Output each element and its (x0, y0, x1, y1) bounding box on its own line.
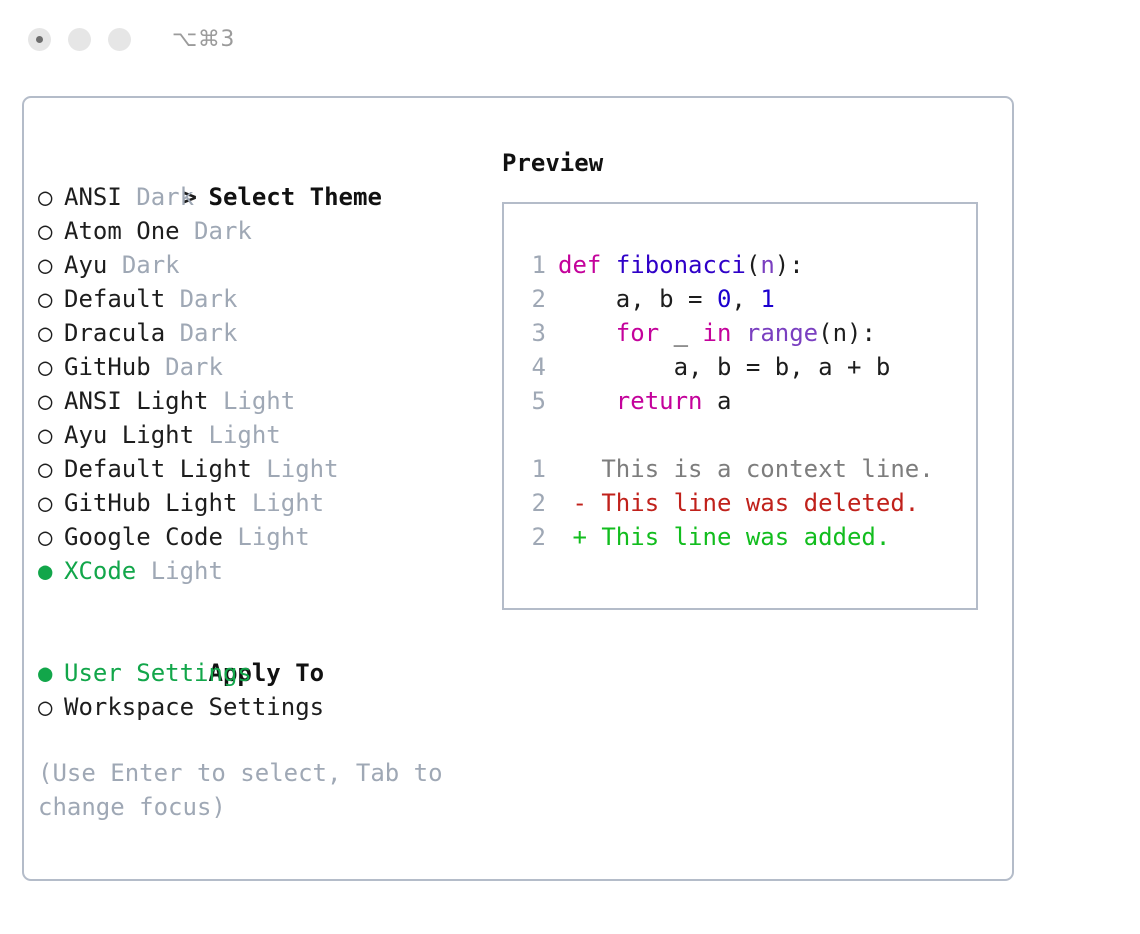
code-line: 2 a, b = 0, 1 (504, 282, 976, 316)
code-token: range (746, 319, 818, 347)
preview-column: Preview 1def fibonacci(n):2 a, b = 0, 13… (502, 146, 992, 610)
code-token: fibonacci (616, 251, 746, 279)
theme-option-google-code[interactable]: ○Google Code Light (38, 520, 488, 554)
theme-option-space (252, 455, 266, 483)
theme-list-header: >Select Theme (38, 146, 488, 180)
code-token: return (616, 387, 703, 415)
window-dot-3-icon[interactable] (108, 28, 131, 51)
theme-option-label: GitHub (64, 353, 151, 381)
theme-option-github-light[interactable]: ○GitHub Light Light (38, 486, 488, 520)
theme-option-variant: Dark (180, 285, 238, 313)
theme-option-space (151, 353, 165, 381)
window-titlebar: ⌥⌘3 (0, 0, 1140, 78)
theme-option-label: Default Light (64, 455, 252, 483)
theme-option-default[interactable]: ○Default Dark (38, 282, 488, 316)
preview-gap (504, 418, 976, 452)
apply-to-header: Apply To (38, 622, 488, 656)
app-window: ⌥⌘3 >Select Theme ○ANSI Dark○Atom One Da… (0, 0, 1140, 934)
diff-line-text: This is a context line. (558, 455, 934, 483)
theme-selection-column: >Select Theme ○ANSI Dark○Atom One Dark○A… (38, 146, 488, 824)
preview-box: 1def fibonacci(n):2 a, b = 0, 13 for _ i… (502, 202, 978, 610)
code-token: in (703, 319, 732, 347)
code-token: 0 (717, 285, 731, 313)
diff-line: 1 This is a context line. (504, 452, 976, 486)
code-token: ( (746, 251, 760, 279)
code-token: n (760, 251, 774, 279)
theme-option-space (237, 489, 251, 517)
code-preview-block: 1def fibonacci(n):2 a, b = 0, 13 for _ i… (504, 248, 976, 418)
code-line: 4 a, b = b, a + b (504, 350, 976, 384)
radio-unselected-icon: ○ (38, 520, 64, 554)
theme-option-label: Ayu (64, 251, 107, 279)
diff-line-number: 2 (522, 486, 546, 520)
radio-unselected-icon: ○ (38, 214, 64, 248)
theme-option-space (107, 251, 121, 279)
code-token: a (703, 387, 732, 415)
radio-unselected-icon: ○ (38, 282, 64, 316)
code-token: ): (775, 251, 804, 279)
apply-to-option-label: Workspace Settings (64, 693, 324, 721)
theme-option-label: Atom One (64, 217, 180, 245)
code-token (558, 319, 616, 347)
diff-line: 2 + This line was added. (504, 520, 976, 554)
theme-option-variant: Light (237, 523, 309, 551)
theme-option-variant: Light (252, 489, 324, 517)
radio-selected-icon: ● (38, 554, 64, 588)
main-panel: >Select Theme ○ANSI Dark○Atom One Dark○A… (22, 96, 1014, 881)
theme-option-space (165, 285, 179, 313)
radio-unselected-icon: ○ (38, 180, 64, 214)
theme-option-variant: Dark (165, 353, 223, 381)
diff-line-text: + This line was added. (558, 523, 890, 551)
code-token (558, 387, 616, 415)
code-token (601, 251, 615, 279)
theme-option-label: Dracula (64, 319, 165, 347)
code-token: 1 (760, 285, 774, 313)
theme-list-header-label: Select Theme (209, 183, 382, 211)
code-token: for (616, 319, 659, 347)
theme-option-xcode[interactable]: ●XCode Light (38, 554, 488, 588)
code-line-number: 5 (522, 384, 546, 418)
radio-unselected-icon: ○ (38, 486, 64, 520)
code-line-number: 2 (522, 282, 546, 316)
theme-option-variant: Dark (122, 251, 180, 279)
radio-unselected-icon: ○ (38, 452, 64, 486)
theme-option-variant: Light (151, 557, 223, 585)
apply-to-option-workspace-settings[interactable]: ○Workspace Settings (38, 690, 488, 724)
radio-unselected-icon: ○ (38, 418, 64, 452)
code-line: 5 return a (504, 384, 976, 418)
theme-option-ayu[interactable]: ○Ayu Dark (38, 248, 488, 282)
theme-option-label: ANSI (64, 183, 122, 211)
theme-option-label: Ayu Light (64, 421, 194, 449)
theme-option-variant: Dark (194, 217, 252, 245)
theme-option-github[interactable]: ○GitHub Dark (38, 350, 488, 384)
theme-option-space (165, 319, 179, 347)
code-token: _ (659, 319, 702, 347)
section-spacer (38, 588, 488, 622)
theme-option-space (136, 557, 150, 585)
code-token (731, 319, 745, 347)
theme-option-space (223, 523, 237, 551)
radio-unselected-icon: ○ (38, 248, 64, 282)
diff-line-number: 1 (522, 452, 546, 486)
diff-preview-block: 1 This is a context line.2 - This line w… (504, 452, 976, 554)
code-line-number: 1 (522, 248, 546, 282)
theme-option-variant: Dark (136, 183, 194, 211)
radio-selected-icon: ● (38, 656, 64, 690)
code-line-number: 3 (522, 316, 546, 350)
code-token: a, b = (558, 285, 717, 313)
radio-unselected-icon: ○ (38, 384, 64, 418)
diff-line-number: 2 (522, 520, 546, 554)
preview-title: Preview (502, 146, 992, 180)
theme-option-variant: Light (223, 387, 295, 415)
code-line: 1def fibonacci(n): (504, 248, 976, 282)
theme-option-ansi-light[interactable]: ○ANSI Light Light (38, 384, 488, 418)
theme-option-label: Default (64, 285, 165, 313)
apply-to-option-label: User Settings (64, 659, 252, 687)
theme-option-variant: Dark (180, 319, 238, 347)
code-line: 3 for _ in range(n): (504, 316, 976, 350)
window-dot-2-icon[interactable] (68, 28, 91, 51)
code-token: , (731, 285, 760, 313)
theme-option-label: XCode (64, 557, 136, 585)
code-token: def (558, 251, 601, 279)
theme-option-variant: Light (266, 455, 338, 483)
theme-option-default-light[interactable]: ○Default Light Light (38, 452, 488, 486)
theme-option-label: Google Code (64, 523, 223, 551)
theme-option-variant: Light (209, 421, 281, 449)
theme-option-space (194, 421, 208, 449)
window-dot-1-icon[interactable] (28, 28, 51, 51)
radio-unselected-icon: ○ (38, 690, 64, 724)
theme-list: ○ANSI Dark○Atom One Dark○Ayu Dark○Defaul… (38, 180, 488, 588)
radio-unselected-icon: ○ (38, 350, 64, 384)
theme-option-ayu-light[interactable]: ○Ayu Light Light (38, 418, 488, 452)
diff-line: 2 - This line was deleted. (504, 486, 976, 520)
theme-option-label: GitHub Light (64, 489, 237, 517)
theme-option-space (209, 387, 223, 415)
diff-line-text: - This line was deleted. (558, 489, 919, 517)
theme-option-space (180, 217, 194, 245)
code-token: a, b = b, a + b (558, 353, 890, 381)
code-token: (n): (818, 319, 876, 347)
radio-unselected-icon: ○ (38, 316, 64, 350)
theme-option-space (122, 183, 136, 211)
window-shortcut-label: ⌥⌘3 (172, 27, 235, 52)
keyboard-hint-text: (Use Enter to select, Tab to change focu… (38, 756, 458, 824)
theme-option-atom-one[interactable]: ○Atom One Dark (38, 214, 488, 248)
theme-option-label: ANSI Light (64, 387, 209, 415)
theme-option-dracula[interactable]: ○Dracula Dark (38, 316, 488, 350)
code-line-number: 4 (522, 350, 546, 384)
